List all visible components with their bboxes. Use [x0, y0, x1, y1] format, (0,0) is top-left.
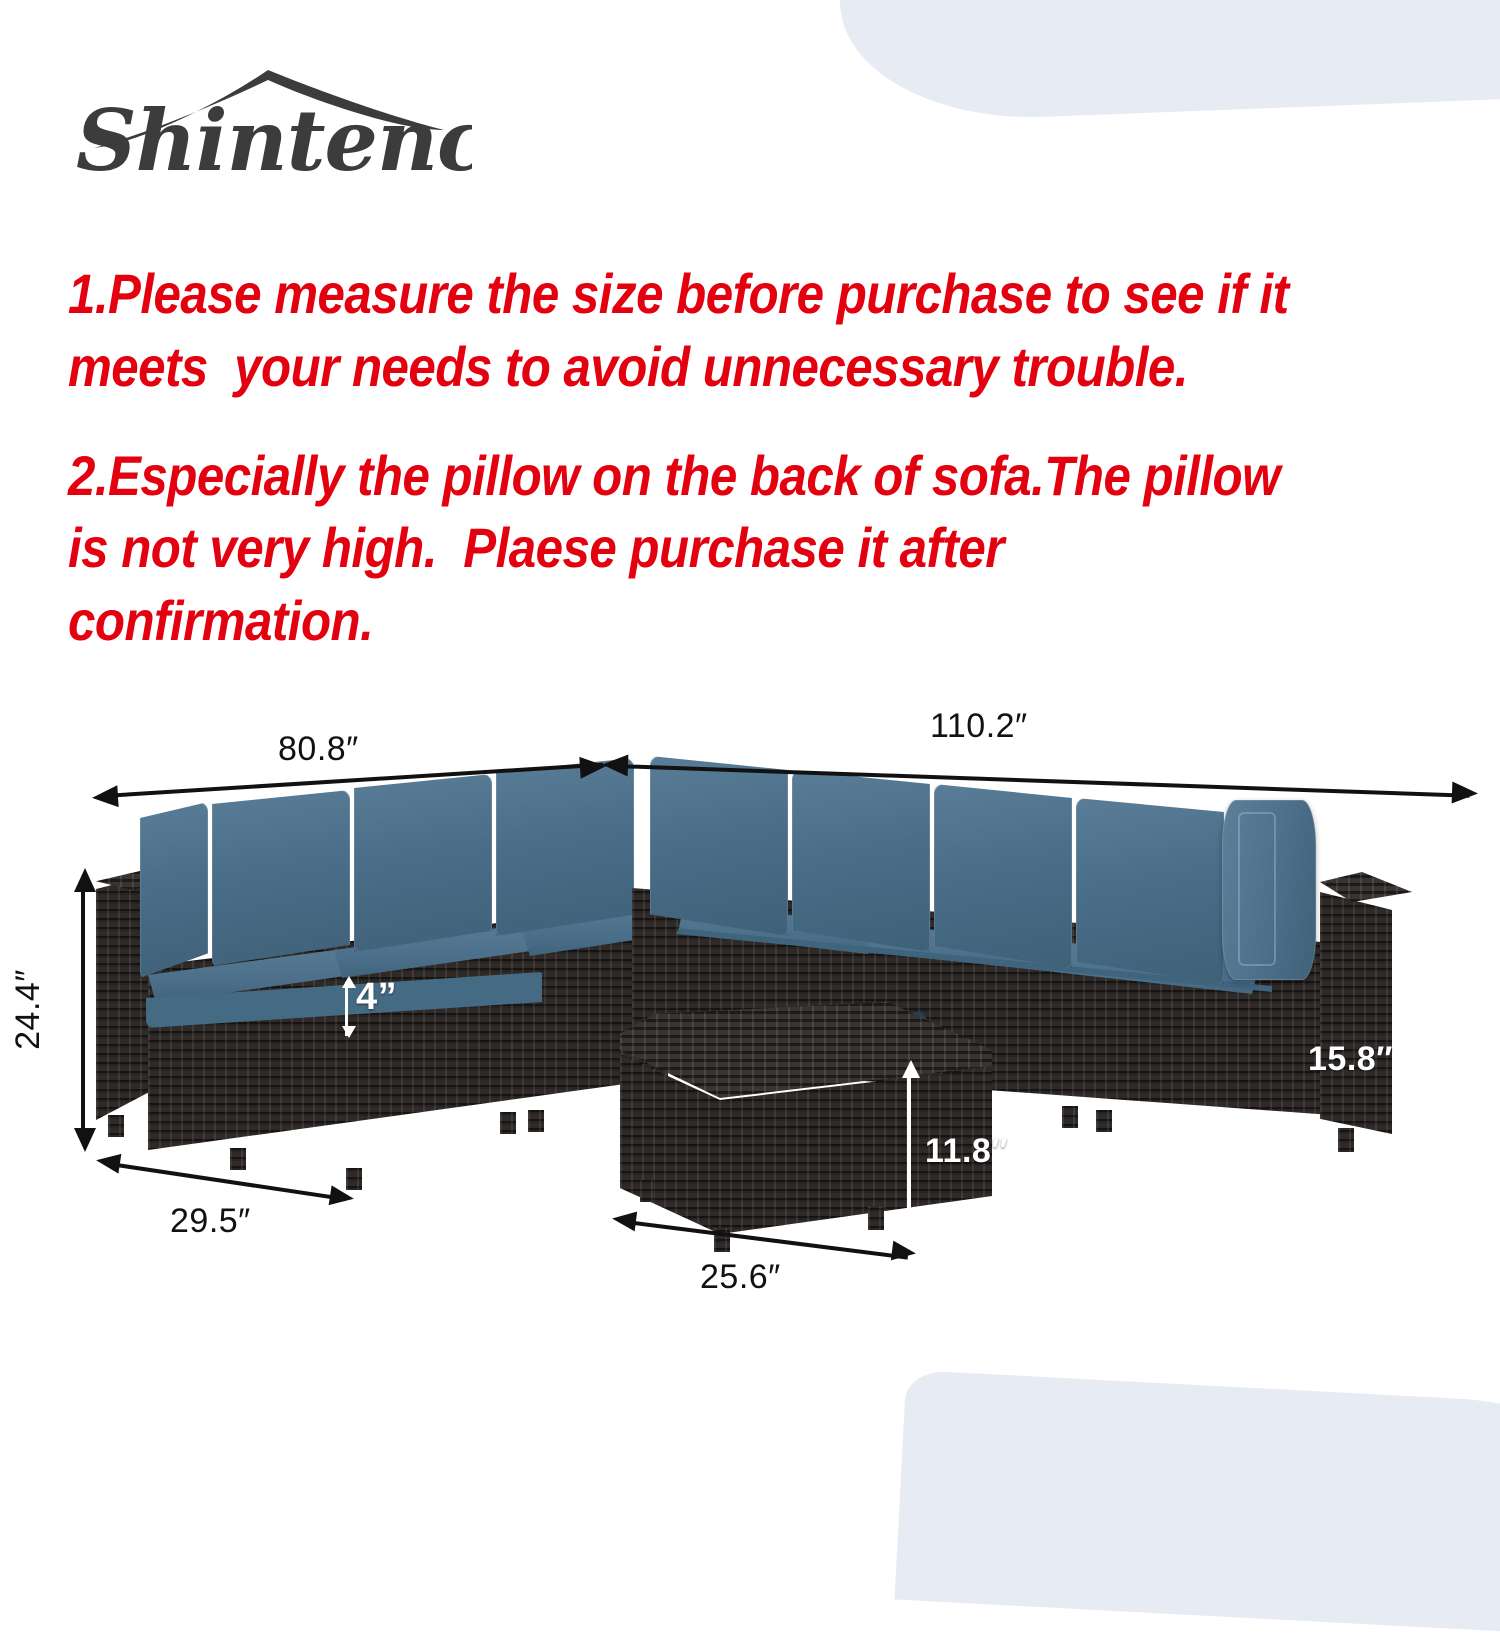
decorative-shape-bottom-right [895, 1370, 1500, 1640]
dim-arrow-11-8-top [902, 1060, 920, 1078]
dim-arrow-29-5-start [95, 1150, 122, 1173]
brand-logo: Shintenchi [72, 62, 472, 212]
back-cushion-right-4 [1076, 798, 1224, 984]
sofa-foot [230, 1148, 246, 1170]
sofa-foot [1062, 1106, 1078, 1128]
dim-line-29-5 [110, 1162, 346, 1201]
dim-arrow-15-8-bottom [1395, 1124, 1413, 1142]
dim-arrow-29-5-end [329, 1185, 356, 1208]
dim-arrow-4-bottom [342, 1026, 356, 1038]
back-cushion-right-3 [934, 784, 1072, 968]
bolster-pillow-seam [1238, 812, 1276, 966]
dim-label-4: 4” [356, 976, 397, 1019]
sofa-right-arm-top [1300, 872, 1412, 902]
dim-arrow-24-4-bottom [74, 1128, 96, 1152]
dim-arrow-110-2-start [602, 754, 629, 777]
dim-arrow-11-8-bottom [902, 1224, 920, 1242]
coffee-table-foot [640, 1180, 654, 1202]
sofa-foot [528, 1110, 544, 1132]
dim-label-29-5: 29.5″ [170, 1202, 251, 1241]
dim-arrow-25-6-end [891, 1241, 917, 1264]
sofa-foot [346, 1168, 362, 1190]
dim-arrow-110-2-end [1452, 782, 1479, 805]
dim-arrow-4-top [342, 976, 356, 988]
back-cushion-left-2 [212, 790, 350, 966]
notice-item-2: 2.Especially the pillow on the back of s… [68, 440, 1309, 658]
dim-arrow-15-8-top [1395, 968, 1413, 986]
dim-label-15-8: 15.8″ [1308, 1040, 1393, 1079]
dim-arrow-80-8-start [91, 785, 118, 809]
brand-wordmark: Shintenchi [76, 91, 472, 190]
dim-label-80-8: 80.8″ [278, 730, 359, 769]
notice-list: 1.Please measure the size before purchas… [68, 258, 1478, 694]
back-cushion-left-1 [140, 802, 208, 978]
dim-label-11-8: 11.8″ [925, 1132, 1008, 1171]
sofa-foot [108, 1115, 124, 1137]
dim-label-25-6: 25.6″ [700, 1258, 781, 1297]
back-cushion-right-2 [792, 770, 930, 952]
dim-label-110-2: 110.2″ [930, 707, 1028, 746]
dim-label-24-4: 24.4″ [9, 969, 48, 1050]
back-cushion-left-3 [354, 774, 492, 952]
sofa-foot [500, 1112, 516, 1134]
back-cushion-left-4 [496, 758, 634, 936]
dim-line-11-8 [907, 1072, 911, 1240]
sofa-right-arm [1320, 882, 1392, 1134]
dim-arrow-24-4-top [74, 868, 96, 892]
coffee-table-foot [868, 1206, 884, 1230]
back-cushion-right-1 [650, 756, 788, 936]
notice-item-1: 1.Please measure the size before purchas… [68, 258, 1309, 404]
decorative-shape-top-right [836, 0, 1500, 125]
dim-line-24-4 [81, 880, 85, 1142]
sofa-foot [1338, 1128, 1354, 1152]
sofa-foot [1096, 1110, 1112, 1132]
product-diagram: 80.8″ 110.2″ 24.4″ 4” 29.5″ 11.8″ 25.6″ … [0, 690, 1500, 1330]
dim-arrow-25-6-start [611, 1209, 637, 1232]
dim-line-15-8 [1400, 980, 1404, 1140]
